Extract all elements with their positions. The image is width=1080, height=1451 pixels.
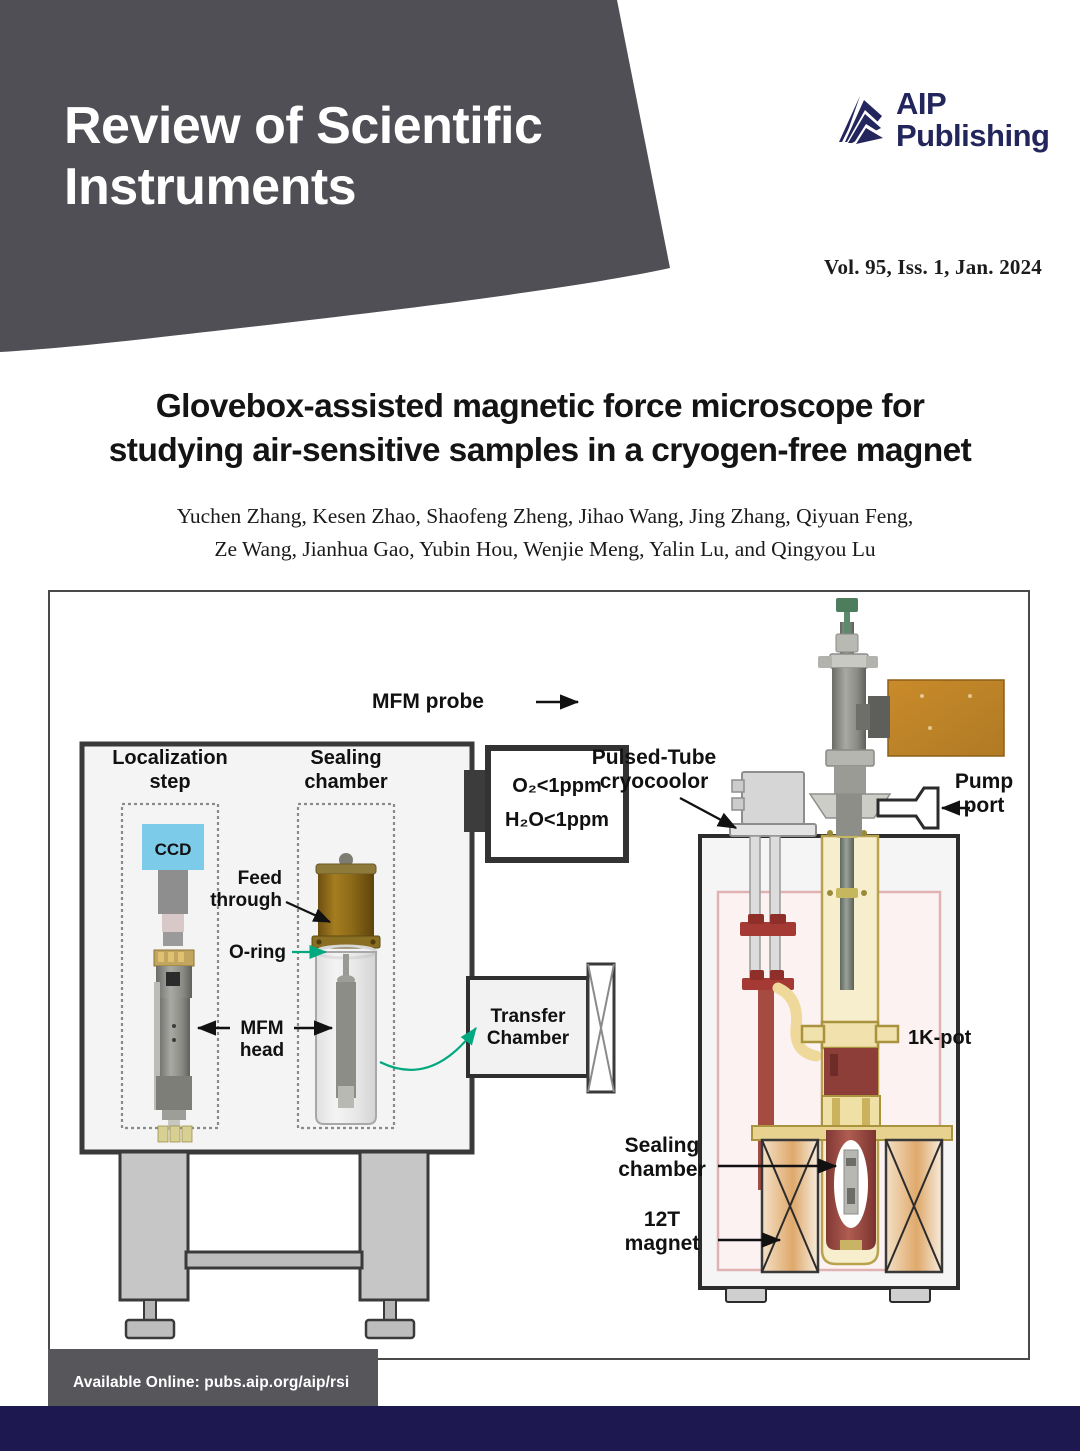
cover-figure-illustration: CCD [50,592,1028,1358]
pump-port-label-line-2: port [964,794,1005,817]
purity-h2o-readout: H₂O<1ppm [505,809,609,831]
mfm-head-connector-3 [182,1126,192,1142]
side-tee-neck [856,704,870,730]
mfm-head-lower-body [156,1076,192,1110]
journal-title-line-2: Instruments [64,157,624,218]
mfm-head-pin-1 [158,952,164,962]
article-title: Glovebox-assisted magnetic force microsc… [40,385,1040,472]
second-stage-block-2 [770,970,784,980]
block-hole-1 [920,694,924,698]
probe-top-nut [836,634,858,652]
glovebox-leg-left [120,1152,188,1300]
glovebox-foot-left [126,1320,174,1338]
feedthrough-top-flange [316,864,376,874]
probe-clamp-bolt-1 [827,830,833,836]
pulsed-tube-label-line-2: cryocoolor [600,770,709,793]
sealing-chamber-assembly [312,853,380,1124]
mfm-head-pin-2 [168,952,174,962]
ccd-mount [163,932,183,946]
glovebox-foot-right [366,1320,414,1338]
ccd-lens-tip [162,914,184,932]
block-hole-2 [968,694,972,698]
journal-title-line-1: Review of Scientific [64,96,624,157]
one-k-pot-tab-left [802,1026,824,1042]
insert-bottom-cap [840,1240,862,1250]
insert-slot [830,1054,838,1076]
journal-title: Review of Scientific Instruments [64,96,624,219]
probe-clamp-bolt-3 [827,890,833,896]
inner-mfm-body [336,982,356,1098]
mfm-head-connector-2 [170,1126,180,1142]
localization-step-label-line-1: Localization [112,747,228,769]
first-stage-block-1 [748,914,764,924]
cryocooler-flange [730,824,816,836]
feedthrough-bolt-right [370,939,375,944]
ccd-lens-barrel [158,870,188,914]
mfm-head-label-line-1: MFM [240,1018,283,1039]
probe-neck [836,794,862,836]
available-online-text: Available Online: pubs.aip.org/aip/rsi [48,1374,349,1392]
magnet-label-line-1: 12T [644,1208,680,1231]
bottom-accent-bar [0,1406,1080,1451]
transfer-chamber-body [468,978,588,1076]
mfm-head-base-plate [162,1110,186,1120]
cryocooler-port-upper [732,780,744,792]
glovebox-foot-stem-right [384,1300,396,1322]
block-hole-3 [928,726,932,730]
mfm-head-label-line-2: head [240,1040,284,1061]
ccd-label: CCD [155,840,192,859]
second-stage-block-1 [750,970,764,980]
article-title-line-2: studying air-sensitive samples in a cryo… [40,429,1040,473]
mfm-probe-label: MFM probe [372,690,484,713]
one-k-pot-body [822,1022,878,1048]
probe-top-valve [836,598,858,612]
sealing-chamber-label-line-1: Sealing [310,747,381,769]
mfm-head-screw-2 [172,1038,176,1042]
article-authors: Yuchen Zhang, Kesen Zhao, Shaofeng Zheng… [150,500,940,567]
mfm-head-screw-1 [172,1024,176,1028]
article-title-line-1: Glovebox-assisted magnetic force microsc… [40,385,1040,429]
probe-flange-top [830,654,868,668]
electronics-block-mount [868,696,890,738]
insert-collar-rib-2 [862,1098,870,1128]
feed-through-label-line-1: Feed [238,868,282,889]
sample-mfm-detail-1 [846,1158,856,1166]
transfer-chamber-label-line-1: Transfer [491,1006,567,1027]
first-stage-block-2 [770,914,786,924]
glovebox-assembly: CCD [82,744,626,1338]
localization-step-label-line-2: step [149,771,190,793]
cryocooler-port-lower [732,798,744,810]
pump-port-label-line-1: Pump [955,770,1013,793]
mfm-head-pin-3 [178,952,184,962]
pulsed-tube-cryocooler-body [742,772,804,824]
aip-wordmark-line-1: AIP [896,88,1049,120]
inner-mfm-foot [338,1086,354,1108]
one-k-pot-tab-right [876,1026,898,1042]
sealing-chamber-label-line-2: chamber [304,771,388,793]
authors-line-1: Yuchen Zhang, Kesen Zhao, Shaofeng Zheng… [150,500,940,533]
cryocooler-tube-2 [770,836,780,982]
feed-through-label-line-2: through [210,890,282,911]
o-ring-label: O-ring [229,942,286,963]
cryostat-sealing-chamber-label-line-2: chamber [618,1158,706,1181]
cover-figure: CCD [48,590,1030,1360]
probe-rod-clamp-2 [836,888,858,898]
probe-top-stem [844,612,850,634]
purity-o2-readout: O₂<1ppm [512,775,601,797]
inner-mfm-shaft [343,954,349,978]
probe-mid-housing [834,766,866,794]
electronics-block [888,680,1004,756]
first-stage-plate [740,922,796,936]
glovebox-cross-brace [186,1252,362,1268]
issue-line: Vol. 95, Iss. 1, Jan. 2024 [824,255,1042,280]
glovebox-leg-right [360,1152,428,1300]
sample-mfm-detail-2 [847,1188,855,1204]
aip-wordmark: AIP Publishing [896,88,1049,151]
cryostat-sealing-chamber-label-line-1: Sealing [625,1134,700,1157]
aip-fan-logo-icon [838,94,886,146]
cryostat-foot-left [726,1288,766,1302]
pulsed-tube-label-line-1: Pulsed-Tube [592,746,716,769]
pulsed-tube-leader [680,798,736,828]
glovebox-foot-stem-left [144,1300,156,1322]
aip-publishing-logo: AIP Publishing [838,80,1050,160]
feedthrough-body [318,874,374,938]
insert-collar-rib-1 [832,1098,840,1128]
one-k-pot-label: 1K-pot [908,1027,972,1049]
feedthrough-bolt-left [316,939,321,944]
authors-line-2: Ze Wang, Jianhua Gao, Yubin Hou, Wenjie … [150,533,940,566]
mfm-probe-tip [818,656,832,668]
probe-flange-lug [866,656,878,668]
mfm-head-connector-1 [158,1126,168,1142]
transfer-chamber-label-line-2: Chamber [487,1028,570,1049]
mfm-head-window [166,972,180,986]
cryocooler-tube-1 [750,836,760,982]
magnet-label-line-2: magnet [625,1232,700,1255]
probe-clamp-bolt-4 [861,890,867,896]
cryostat-foot-right [890,1288,930,1302]
aip-wordmark-line-2: Publishing [896,120,1049,152]
probe-mid-flange [826,750,874,766]
